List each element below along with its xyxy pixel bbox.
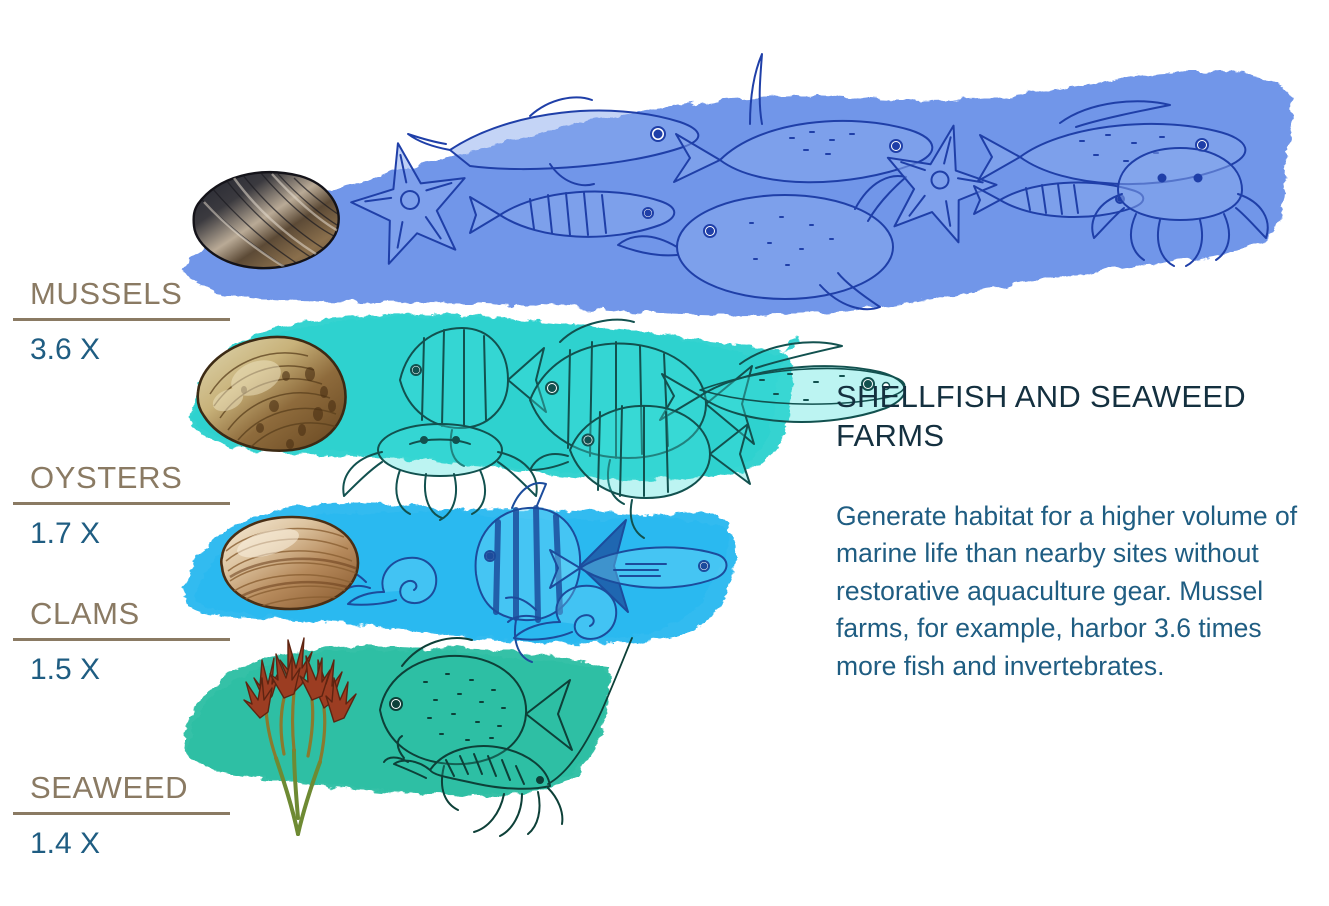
- category-label-mussels: MUSSELS: [13, 278, 233, 309]
- clam-shell-icon: [216, 511, 364, 615]
- label-rule-clams: [13, 638, 230, 641]
- label-rule-seaweed: [13, 812, 230, 815]
- creatures-seaweed: [380, 638, 632, 836]
- label-block-mussels: MUSSELS 3.6 X: [13, 278, 233, 365]
- label-block-oysters: OYSTERS 1.7 X: [13, 462, 233, 549]
- category-value-seaweed: 1.4 X: [13, 829, 233, 859]
- category-value-oysters: 1.7 X: [13, 519, 233, 549]
- panel-headline: SHELLFISH AND SEAWEED FARMS: [836, 378, 1306, 456]
- panel-body: Generate habitat for a higher volume of …: [836, 498, 1306, 686]
- category-label-seaweed: SEAWEED: [13, 772, 233, 803]
- category-value-clams: 1.5 X: [13, 655, 233, 685]
- category-label-clams: CLAMS: [13, 598, 233, 629]
- blob-mussels: [183, 71, 1293, 315]
- creatures-oysters: [343, 320, 905, 538]
- blob-seaweed: [185, 646, 611, 795]
- creatures-clams: [342, 483, 727, 662]
- infographic-root: MUSSELS 3.6 X OYSTERS 1.7 X CLAMS 1.5 X …: [0, 0, 1329, 906]
- mussel-shell-icon: [188, 168, 346, 280]
- text-panel: SHELLFISH AND SEAWEED FARMS Generate hab…: [836, 378, 1306, 686]
- creatures-mussels: [341, 54, 1267, 309]
- label-block-clams: CLAMS 1.5 X: [13, 598, 233, 685]
- label-rule-oysters: [13, 502, 230, 505]
- label-block-seaweed: SEAWEED 1.4 X: [13, 772, 233, 859]
- seaweed-frond-icon: [222, 626, 374, 838]
- category-label-oysters: OYSTERS: [13, 462, 233, 493]
- blob-oysters: [191, 314, 800, 480]
- label-rule-mussels: [13, 318, 230, 321]
- blob-clams: [183, 502, 736, 643]
- category-value-mussels: 3.6 X: [13, 335, 233, 365]
